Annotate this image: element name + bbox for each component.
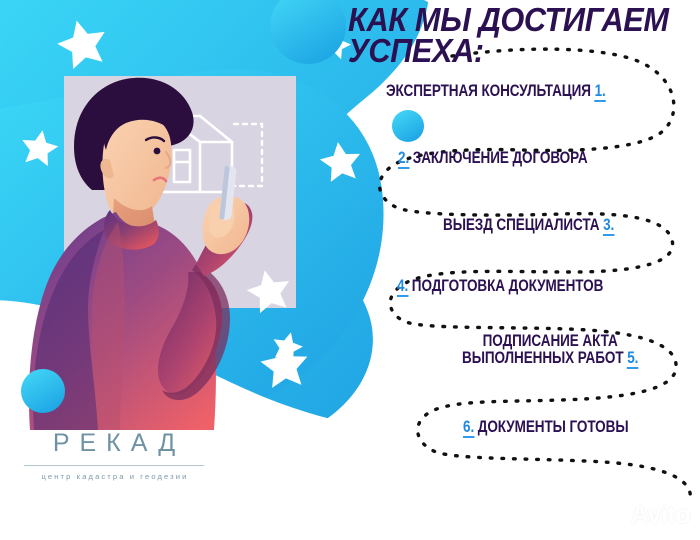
step-5-number: 5. — [627, 349, 638, 369]
step-6-label: Документы готовы — [474, 418, 628, 436]
avito-watermark: Avito — [606, 501, 690, 530]
step-5-label-line2: выполненных работ — [462, 349, 627, 367]
steps-list: Экспертная консультация 1. 2. Заключение… — [0, 0, 700, 540]
step-3-label: Выезд специалиста — [443, 216, 603, 234]
step-4-number: 4. — [397, 277, 408, 297]
step-item-1: Экспертная консультация 1. — [386, 83, 606, 100]
step-2-label: Заключение договора — [409, 149, 587, 167]
step-4-label: Подготовка документов — [408, 277, 603, 295]
step-3-number: 3. — [603, 216, 614, 236]
step-1-label: Экспертная консультация — [386, 82, 595, 100]
step-item-4: 4. Подготовка документов — [397, 278, 603, 295]
step-2-number: 2. — [398, 149, 409, 169]
step-item-2: 2. Заключение договора — [398, 150, 588, 167]
step-1-number: 1. — [595, 82, 606, 102]
step-5-line2: выполненных работ 5. — [462, 350, 638, 367]
avito-brand-text: Avito — [631, 501, 690, 530]
step-5-label-line1: Подписание акта — [462, 333, 638, 350]
step-item-6: 6. Документы готовы — [463, 419, 628, 436]
step-6-number: 6. — [463, 418, 474, 438]
step-item-5: Подписание акта выполненных работ 5. — [462, 333, 638, 367]
avito-dots-icon — [606, 505, 628, 527]
step-item-3: Выезд специалиста 3. — [443, 217, 614, 234]
poster-canvas: Как мы достигаем успеха: Экспертная конс… — [0, 0, 700, 540]
